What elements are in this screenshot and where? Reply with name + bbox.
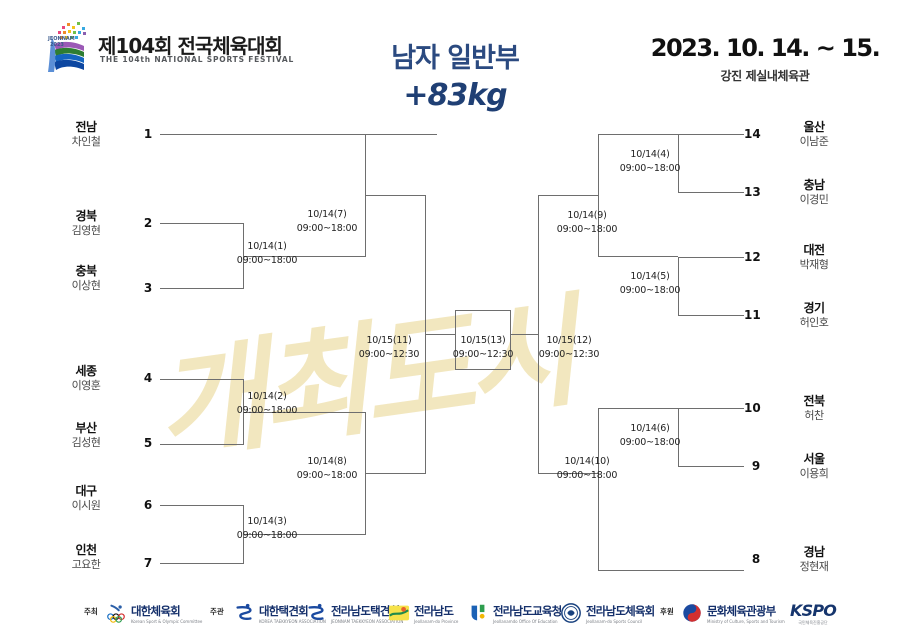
match-code: 10/14(10) <box>545 455 629 469</box>
bracket-line <box>678 192 744 193</box>
match-code: 10/14(9) <box>545 209 629 223</box>
match-time: 09:00~18:00 <box>608 436 692 450</box>
seed-left-4: 4 <box>140 371 156 385</box>
match-code: 10/14(2) <box>225 390 309 404</box>
sponsor-subtitle: Jeollanam-do Sports Council <box>586 619 654 624</box>
competitor-region: 전남 <box>36 120 136 135</box>
bracket-line <box>678 408 744 409</box>
competitor-region: 인천 <box>36 543 136 558</box>
event-venue: 강진 제실내체육관 <box>640 67 890 84</box>
competitor-player: 이시원 <box>36 499 136 514</box>
competitor-region: 부산 <box>36 421 136 436</box>
seed-right-14: 14 <box>744 127 760 141</box>
bracket-line <box>160 379 243 380</box>
competitor-region: 세종 <box>36 364 136 379</box>
seed-right-12: 12 <box>744 250 760 264</box>
bracket-line <box>365 195 425 196</box>
competitor-right-14: 울산 이남준 <box>764 120 864 150</box>
competitor-region: 대전 <box>764 243 864 258</box>
match-label-10-14-7: 10/14(7) 09:00~18:00 <box>285 208 369 236</box>
competitor-player: 허인호 <box>764 316 864 331</box>
sponsor-korean-sport-olympic: 대한체육회 Korean Sport & Olympic Committee <box>105 596 202 630</box>
seed-left-3: 3 <box>140 281 156 295</box>
match-time: 09:00~18:00 <box>545 469 629 483</box>
bracket-line <box>160 288 243 289</box>
match-code: 10/14(6) <box>608 422 692 436</box>
match-label-10-14-9: 10/14(9) 09:00~18:00 <box>545 209 629 237</box>
competitor-region: 경북 <box>36 209 136 224</box>
bracket-line <box>598 408 678 409</box>
seed-right-10: 10 <box>744 401 760 415</box>
seed-right-8: 8 <box>748 552 764 566</box>
seed-left-1: 1 <box>140 127 156 141</box>
match-label-10-14-4: 10/14(4) 09:00~18:00 <box>608 148 692 176</box>
bracket-page: 개최도시 <box>0 0 900 636</box>
competitor-player: 이영훈 <box>36 379 136 394</box>
seed-left-5: 5 <box>140 436 156 450</box>
education-icon <box>467 602 489 624</box>
match-label-10-15-12: 10/15(12) 09:00~12:30 <box>527 334 611 362</box>
bracket-line <box>598 256 678 257</box>
jeonnam-icon <box>388 602 410 624</box>
competitor-player: 김영현 <box>36 224 136 239</box>
match-code: 10/14(4) <box>608 148 692 162</box>
sponsor-name: 전라남도교육청 <box>493 603 561 619</box>
match-label-10-14-10: 10/14(10) 09:00~18:00 <box>545 455 629 483</box>
sponsor-subtitle: Ministry of Culture, Sports and Tourism <box>707 619 785 624</box>
sponsor-subtitle: Korean Sport & Olympic Committee <box>131 619 202 624</box>
match-code: 10/15(13) <box>441 334 525 348</box>
host-subtitle: THE 104th NATIONAL SPORTS FESTIVAL <box>100 55 294 64</box>
match-time: 09:00~18:00 <box>225 529 309 543</box>
footer-sponsors: 주최 대한체육회 Korean Sport & Olympic Committe… <box>0 592 900 636</box>
seed-left-2: 2 <box>140 216 156 230</box>
competitor-left-2: 경북 김영현 <box>36 209 136 239</box>
match-time: 09:00~18:00 <box>285 469 369 483</box>
competitor-player: 차인철 <box>36 135 136 150</box>
competitor-left-3: 충북 이상현 <box>36 264 136 294</box>
match-label-10-15-13: 10/15(13) 09:00~12:30 <box>441 334 525 362</box>
bracket-line <box>455 310 510 311</box>
competitor-player: 이상현 <box>36 279 136 294</box>
sponsor-name: 전라남도 <box>414 603 458 619</box>
competitor-player: 박재형 <box>764 258 864 273</box>
competitor-region: 경남 <box>764 545 864 560</box>
bracket-line <box>678 315 744 316</box>
match-label-10-14-2: 10/14(2) 09:00~18:00 <box>225 390 309 418</box>
bracket-line <box>598 134 678 135</box>
bracket-line <box>160 134 437 135</box>
competitor-left-6: 대구 이시원 <box>36 484 136 514</box>
sponsor-jeonnam-education: 전라남도교육청 Jeollanamdo Office Of Education <box>467 596 561 630</box>
sponsor-subtitle: Jeollanam-do Province <box>414 619 458 624</box>
match-time: 09:00~18:00 <box>608 284 692 298</box>
competitor-left-7: 인천 고요한 <box>36 543 136 573</box>
seed-right-11: 11 <box>744 308 760 322</box>
taekkyeon-icon <box>233 602 255 624</box>
match-code: 10/14(1) <box>225 240 309 254</box>
competitor-region: 경기 <box>764 301 864 316</box>
weight-class-title: +83kg <box>330 78 580 113</box>
competitor-region: 서울 <box>764 452 864 467</box>
bracket-line <box>160 505 243 506</box>
bracket-line <box>598 134 599 257</box>
bracket-line <box>160 563 243 564</box>
event-date-range: 2023. 10. 14. ~ 15. <box>640 34 890 62</box>
competitor-region: 전북 <box>764 394 864 409</box>
sponsor-jeonnam-sports-council: 전라남도체육회 Jeollanam-do Sports Council <box>560 596 654 630</box>
seed-right-9: 9 <box>748 459 764 473</box>
footer-label-host: 주최 <box>84 606 98 617</box>
competitor-region: 울산 <box>764 120 864 135</box>
match-label-10-15-11: 10/15(11) 09:00~12:30 <box>347 334 431 362</box>
bracket-line <box>160 444 243 445</box>
competitor-right-12: 대전 박재형 <box>764 243 864 273</box>
bracket-line <box>455 369 510 370</box>
sponsor-mcst: 문화체육관광부 Ministry of Culture, Sports and … <box>681 596 785 630</box>
competitor-left-1: 전남 차인철 <box>36 120 136 150</box>
sponsor-name: KSPO <box>790 601 836 620</box>
bracket-line <box>678 134 744 135</box>
footer-label-organizer: 주관 <box>210 606 224 617</box>
competitor-right-9: 서울 이용희 <box>764 452 864 482</box>
competitor-player: 이용희 <box>764 467 864 482</box>
svg-text:2023: 2023 <box>50 42 64 48</box>
sponsor-jeollanamdo: 전라남도 Jeollanam-do Province <box>388 596 458 630</box>
competitor-player: 정현재 <box>764 560 864 575</box>
competitor-player: 이남준 <box>764 135 864 150</box>
match-code: 10/14(8) <box>285 455 369 469</box>
seed-right-13: 13 <box>744 185 760 199</box>
competitor-player: 김성현 <box>36 436 136 451</box>
competitor-region: 대구 <box>36 484 136 499</box>
sponsor-name: 대한체육회 <box>131 603 202 619</box>
match-time: 09:00~18:00 <box>225 254 309 268</box>
match-time: 09:00~12:30 <box>441 348 525 362</box>
sponsor-subtitle: 국민체육진흥공단 <box>798 620 827 626</box>
competitor-right-13: 충남 이경민 <box>764 178 864 208</box>
sponsor-kspo: KSPO 국민체육진흥공단 <box>790 596 836 630</box>
match-code: 10/15(11) <box>347 334 431 348</box>
match-time: 09:00~18:00 <box>608 162 692 176</box>
match-label-10-14-5: 10/14(5) 09:00~18:00 <box>608 270 692 298</box>
bracket-line <box>598 408 599 570</box>
competitor-player: 허찬 <box>764 409 864 424</box>
match-code: 10/14(3) <box>225 515 309 529</box>
bracket-line <box>538 195 598 196</box>
competitor-right-11: 경기 허인호 <box>764 301 864 331</box>
sponsor-subtitle: Jeollanamdo Office Of Education <box>493 619 561 624</box>
bracket-line <box>160 223 243 224</box>
olympic-rings-icon <box>105 602 127 624</box>
match-time: 09:00~18:00 <box>225 404 309 418</box>
bracket-line <box>678 257 744 258</box>
sports-council-icon <box>560 602 582 624</box>
sponsor-name: 전라남도체육회 <box>586 603 654 619</box>
match-code: 10/14(7) <box>285 208 369 222</box>
sponsor-name: 문화체육관광부 <box>707 603 785 619</box>
competitor-left-4: 세종 이영훈 <box>36 364 136 394</box>
footer-label-sponsor: 후원 <box>660 606 674 617</box>
competitor-region: 충남 <box>764 178 864 193</box>
match-time: 09:00~12:30 <box>527 348 611 362</box>
match-code: 10/14(5) <box>608 270 692 284</box>
bracket-line <box>365 473 425 474</box>
match-time: 09:00~18:00 <box>545 223 629 237</box>
seed-left-7: 7 <box>140 556 156 570</box>
competitor-player: 이경민 <box>764 193 864 208</box>
seed-left-6: 6 <box>140 498 156 512</box>
competitor-player: 고요한 <box>36 558 136 573</box>
match-label-10-14-8: 10/14(8) 09:00~18:00 <box>285 455 369 483</box>
match-time: 09:00~12:30 <box>347 348 431 362</box>
competitor-region: 충북 <box>36 264 136 279</box>
match-label-10-14-1: 10/14(1) 09:00~18:00 <box>225 240 309 268</box>
competitor-right-10: 전북 허찬 <box>764 394 864 424</box>
match-label-10-14-6: 10/14(6) 09:00~18:00 <box>608 422 692 450</box>
jeonnam-emblem-icon: JEONNAM 2023 <box>42 20 94 76</box>
host-logo-block: JEONNAM 2023 제104회 전국체육대회 THE 104th NATI… <box>42 18 292 78</box>
taekkyeon-icon <box>305 602 327 624</box>
match-label-10-14-3: 10/14(3) 09:00~18:00 <box>225 515 309 543</box>
match-time: 09:00~18:00 <box>285 222 369 236</box>
match-code: 10/15(12) <box>527 334 611 348</box>
competitor-right-8: 경남 정현재 <box>764 545 864 575</box>
bracket-line <box>678 466 744 467</box>
taegeuk-icon <box>681 602 703 624</box>
division-title: 남자 일반부 <box>330 36 580 75</box>
bracket-line <box>598 570 744 571</box>
competitor-left-5: 부산 김성현 <box>36 421 136 451</box>
